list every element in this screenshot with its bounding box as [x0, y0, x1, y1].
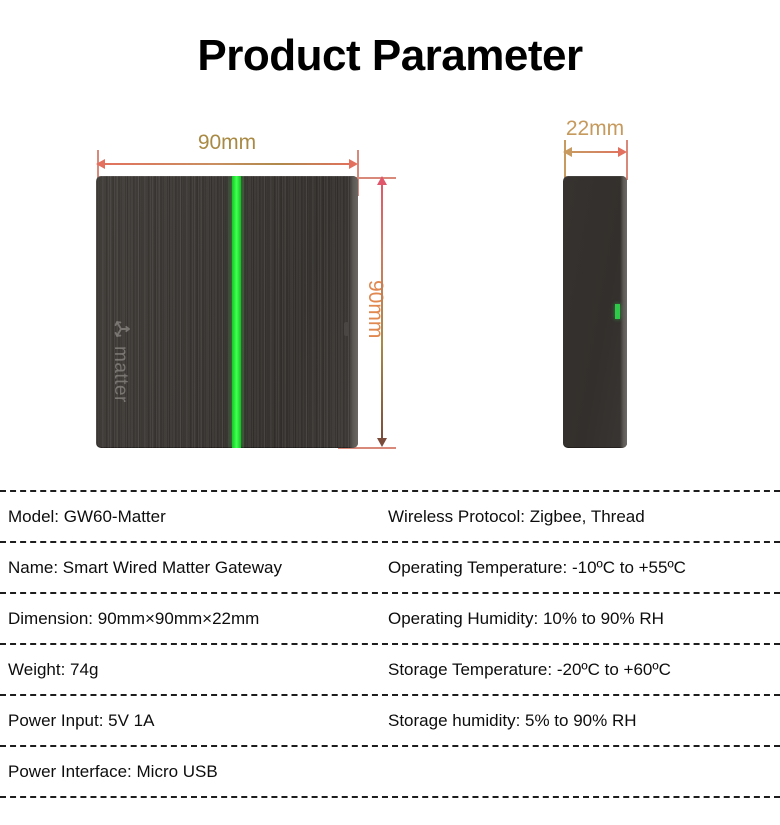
- table-row: Model: GW60-Matter Wireless Protocol: Zi…: [0, 490, 780, 541]
- led-strip-indicator: [232, 176, 241, 448]
- spec-cell-right: Operating Humidity: 10% to 90% RH: [388, 610, 780, 627]
- spec-cell-right: Storage Temperature: -20ºC to +60ºC: [388, 661, 780, 678]
- dimension-arrow-height-top: [377, 176, 387, 185]
- specification-table: Model: GW60-Matter Wireless Protocol: Zi…: [0, 490, 780, 798]
- spec-cell-left: Power Interface: Micro USB: [0, 763, 388, 780]
- table-row: Power Input: 5V 1A Storage humidity: 5% …: [0, 694, 780, 745]
- table-row: Weight: 74g Storage Temperature: -20ºC t…: [0, 643, 780, 694]
- spec-cell-left: Weight: 74g: [0, 661, 388, 678]
- spec-cell-left: Name: Smart Wired Matter Gateway: [0, 559, 388, 576]
- front-view-device: matter: [96, 176, 358, 448]
- table-row: Dimension: 90mm×90mm×22mm Operating Humi…: [0, 592, 780, 643]
- spec-cell-right: Operating Temperature: -10ºC to +55ºC: [388, 559, 780, 576]
- spec-cell-left: Power Input: 5V 1A: [0, 712, 388, 729]
- dimension-arrow-width-right: [349, 159, 358, 169]
- dimension-label-depth: 22mm: [551, 118, 639, 139]
- extension-line-depth-right: [626, 140, 628, 180]
- matter-wordmark: matter: [112, 346, 131, 403]
- side-view-right-edge: [620, 176, 627, 448]
- spec-cell-right: Storage humidity: 5% to 90% RH: [388, 712, 780, 729]
- page-title: Product Parameter: [0, 32, 780, 80]
- dimension-arrow-width-left: [96, 159, 105, 169]
- table-row: Name: Smart Wired Matter Gateway Operati…: [0, 541, 780, 592]
- matter-brand-logo: matter: [104, 318, 138, 438]
- spec-cell-left: Dimension: 90mm×90mm×22mm: [0, 610, 388, 627]
- dimension-line-width: [98, 163, 356, 165]
- device-right-edge: [349, 176, 358, 448]
- dimension-label-width: 90mm: [96, 132, 358, 153]
- spec-cell-left: Model: GW60-Matter: [0, 508, 388, 525]
- dimension-arrow-height-bottom: [377, 438, 387, 447]
- table-row: Power Interface: Micro USB: [0, 745, 780, 798]
- side-view-device: [563, 176, 627, 448]
- side-view-led-indicator: [615, 304, 620, 319]
- device-side-button: [344, 322, 349, 336]
- dimension-arrow-depth-right: [618, 147, 627, 157]
- dimension-line-depth: [565, 151, 625, 153]
- dimension-line-height: [381, 180, 383, 444]
- extension-line-depth-left: [564, 140, 566, 180]
- dimension-arrow-depth-left: [563, 147, 572, 157]
- product-illustration: 90mm 90mm: [0, 110, 780, 480]
- matter-logo-icon: [110, 318, 132, 340]
- spec-cell-right: Wireless Protocol: Zigbee, Thread: [388, 508, 780, 525]
